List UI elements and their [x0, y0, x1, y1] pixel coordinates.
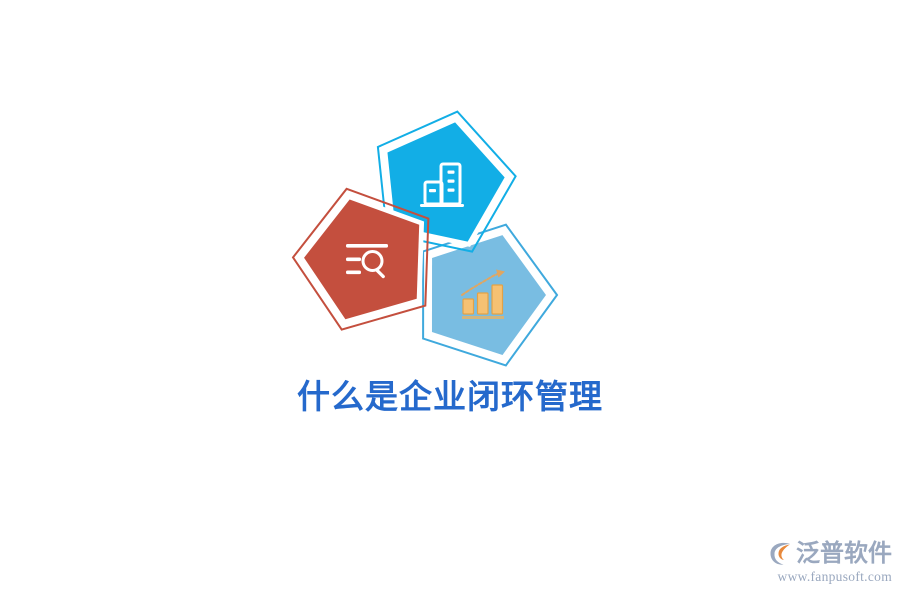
building-tall-window-1	[448, 171, 455, 174]
building-short-window-1	[429, 189, 436, 192]
doc-line-bottom	[346, 271, 361, 275]
watermark-brand-row: 泛普软件	[762, 538, 892, 568]
doc-line-top	[346, 244, 388, 248]
chart-bar-3	[492, 285, 503, 314]
swoosh-inner	[778, 545, 790, 561]
building-tall-window-3	[448, 189, 455, 192]
watermark-brand: 泛普软件	[796, 539, 892, 567]
chart-bar-1	[463, 299, 474, 314]
doc-line-mid	[346, 258, 361, 262]
watermark: 泛普软件 www.fanpusoft.com	[762, 538, 892, 590]
fanpu-swoosh-icon	[768, 540, 794, 566]
pentagon-pinwheel-svg	[285, 112, 575, 377]
building-tall-window-2	[448, 180, 455, 183]
chart-baseline	[462, 316, 504, 319]
page-title: 什么是企业闭环管理	[0, 370, 900, 418]
hero-graphic	[285, 112, 575, 377]
chart-bar-2	[478, 293, 489, 314]
watermark-url: www.fanpusoft.com	[762, 569, 892, 584]
